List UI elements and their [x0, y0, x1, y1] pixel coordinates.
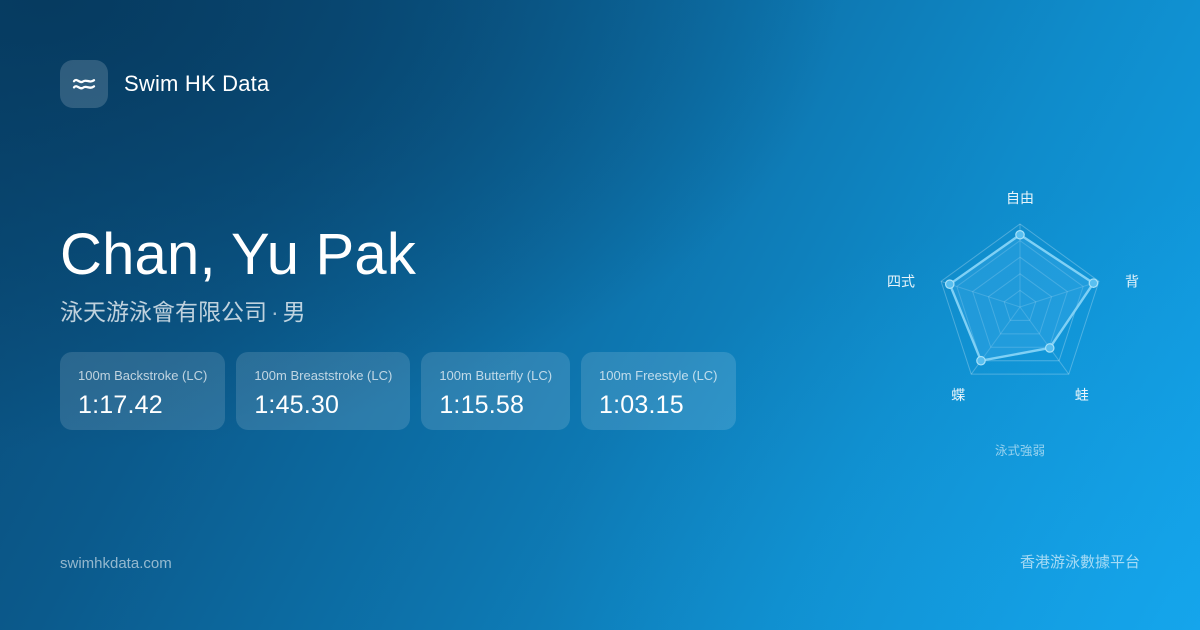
brand-lockup: Swim HK Data	[60, 60, 269, 108]
stat-value: 1:03.15	[599, 391, 717, 419]
radar-axis-label: 蛙	[1075, 387, 1089, 403]
radar-data-point	[1089, 279, 1097, 287]
share-card: Swim HK Data Chan, Yu Pak 泳天游泳會有限公司·男 10…	[0, 0, 1200, 630]
stat-value: 1:45.30	[254, 391, 392, 419]
page-title: Chan, Yu Pak	[60, 222, 416, 288]
stat-label: 100m Freestyle (LC)	[599, 368, 717, 383]
athlete-meta: 泳天游泳會有限公司·男	[60, 297, 416, 327]
radar-data-area	[950, 235, 1094, 361]
radar-caption: 泳式強弱	[995, 444, 1045, 458]
athlete-club: 泳天游泳會有限公司	[60, 299, 267, 325]
stat-card: 100m Freestyle (LC) 1:03.15	[581, 352, 735, 430]
stat-label: 100m Backstroke (LC)	[78, 368, 207, 383]
footer-tagline: 香港游泳數據平台	[1020, 551, 1140, 572]
stat-card: 100m Butterfly (LC) 1:15.58	[421, 352, 570, 430]
athlete-block: Chan, Yu Pak 泳天游泳會有限公司·男	[60, 222, 416, 327]
radar-data-point	[1016, 231, 1024, 239]
stat-value: 1:15.58	[439, 391, 552, 419]
radar-data-point	[946, 280, 954, 288]
brand-name: Swim HK Data	[124, 71, 269, 97]
stat-card: 100m Backstroke (LC) 1:17.42	[60, 352, 225, 430]
radar-axis-label: 蝶	[951, 387, 965, 403]
stat-label: 100m Butterfly (LC)	[439, 368, 552, 383]
stat-card: 100m Breaststroke (LC) 1:45.30	[236, 352, 410, 430]
radar-axis-label: 四式	[887, 273, 915, 289]
stat-label: 100m Breaststroke (LC)	[254, 368, 392, 383]
stat-value: 1:17.42	[78, 391, 207, 419]
stat-card-list: 100m Backstroke (LC) 1:17.42 100m Breast…	[60, 352, 736, 430]
athlete-gender: 男	[283, 299, 306, 325]
radar-data-point	[977, 357, 985, 365]
radar-data-point	[1046, 344, 1054, 352]
radar-axis-label: 背	[1125, 273, 1139, 289]
wave-icon	[60, 60, 108, 108]
radar-chart: 自由背蛙蝶四式 泳式強弱	[870, 162, 1170, 472]
footer-site-url: swimhkdata.com	[60, 555, 172, 572]
meta-separator: ·	[267, 299, 283, 325]
radar-axis-label: 自由	[1006, 190, 1034, 206]
